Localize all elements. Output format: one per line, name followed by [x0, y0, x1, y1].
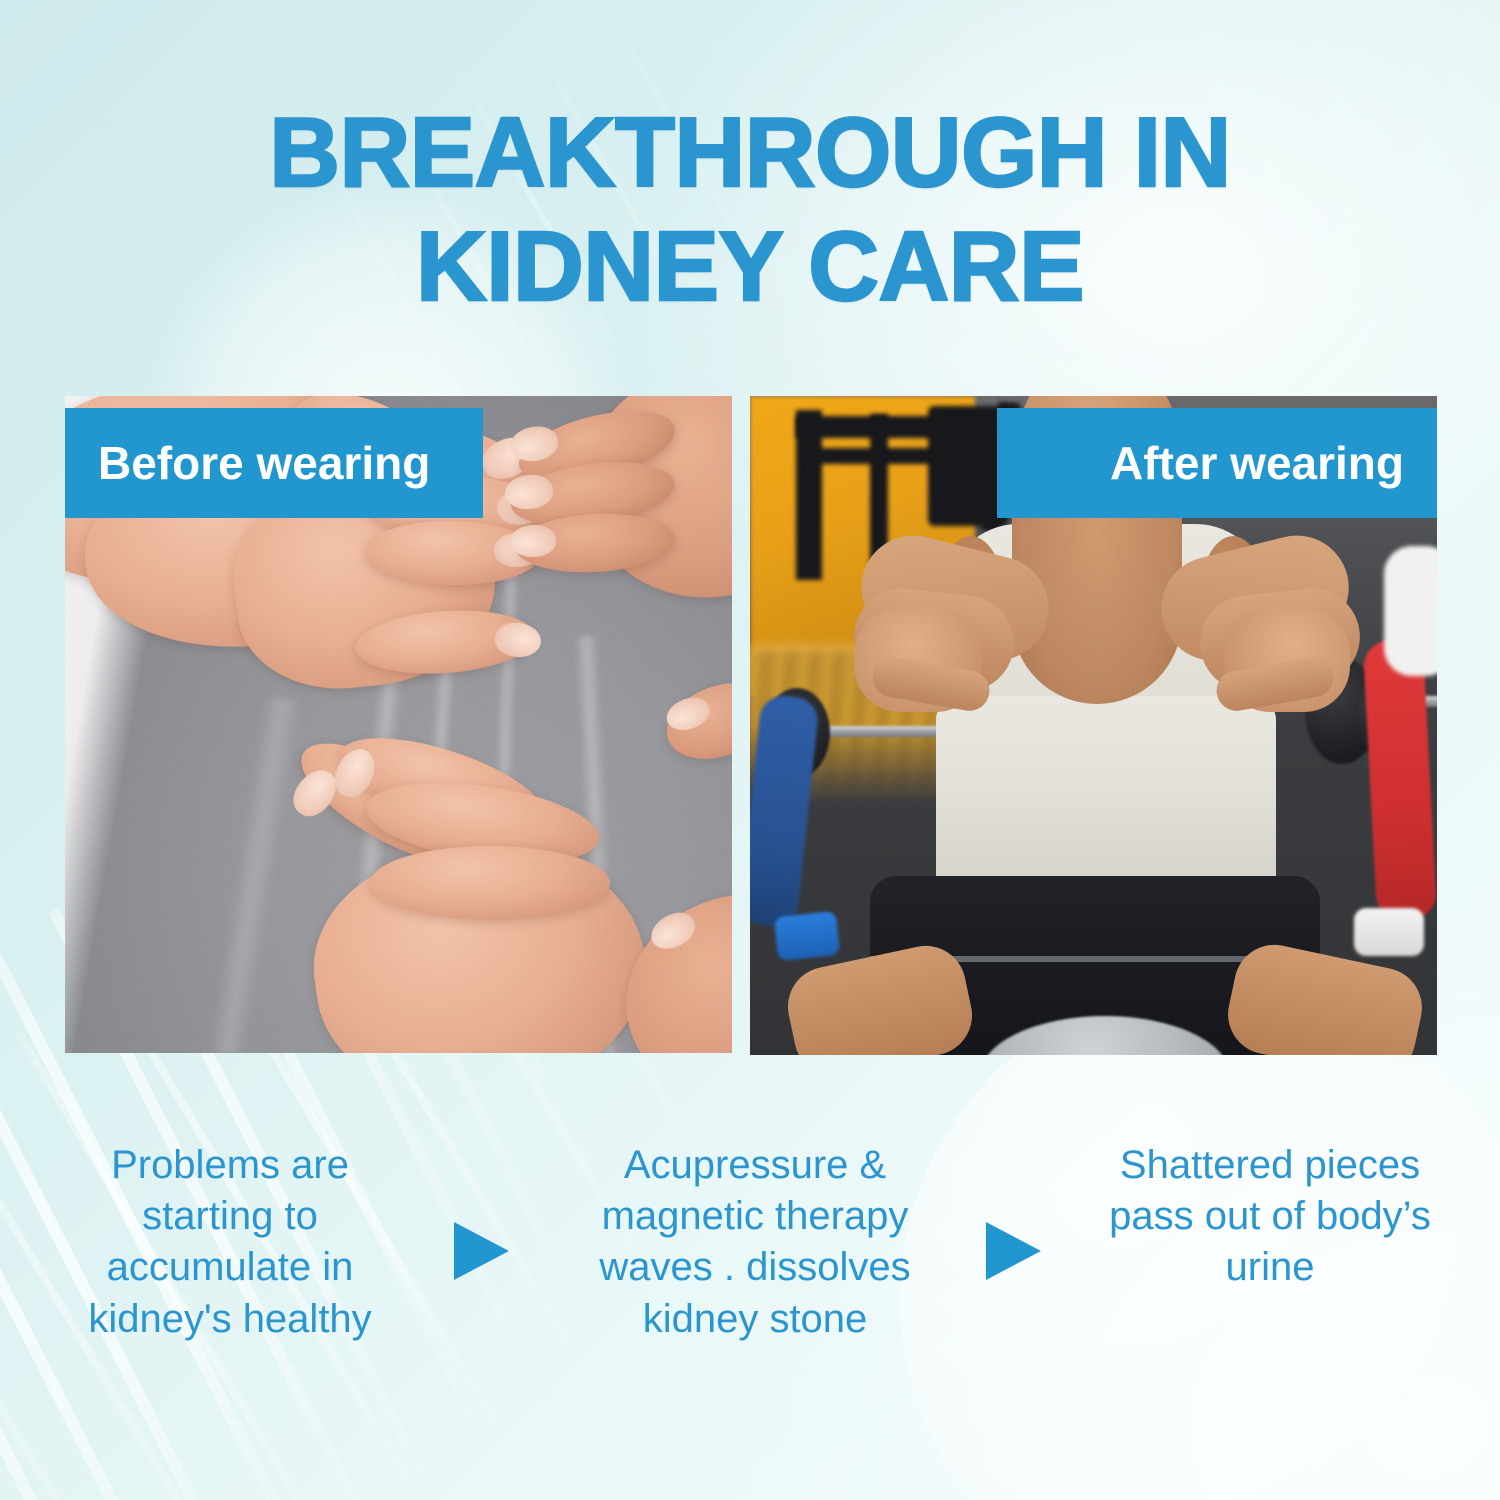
process-steps: Problems are starting to accumulate in k… — [60, 1140, 1450, 1390]
background-person-shoe — [1354, 908, 1424, 956]
background-person-shorts — [1384, 546, 1437, 676]
step-1-text: Problems are starting to accumulate in k… — [60, 1140, 400, 1345]
step-2-text: Acupressure & magnetic therapy waves . d… — [570, 1140, 940, 1345]
after-wearing-label: After wearing — [997, 408, 1437, 518]
page-title: BREAKTHROUGH IN KIDNEY CARE — [0, 96, 1500, 323]
play-triangle-right-icon — [454, 1222, 509, 1280]
finger — [370, 846, 610, 920]
before-photo-panel: Before wearing — [65, 396, 732, 1053]
after-photo-panel: After wearing — [750, 396, 1437, 1055]
play-triangle-right-icon — [986, 1222, 1041, 1280]
poster-canvas: BREAKTHROUGH IN KIDNEY CARE — [0, 0, 1500, 1500]
background-person-shoe — [774, 911, 840, 961]
before-wearing-label: Before wearing — [65, 408, 483, 518]
rack-post — [870, 414, 888, 564]
step-3-text: Shattered pieces pass out of body’s urin… — [1090, 1140, 1450, 1294]
